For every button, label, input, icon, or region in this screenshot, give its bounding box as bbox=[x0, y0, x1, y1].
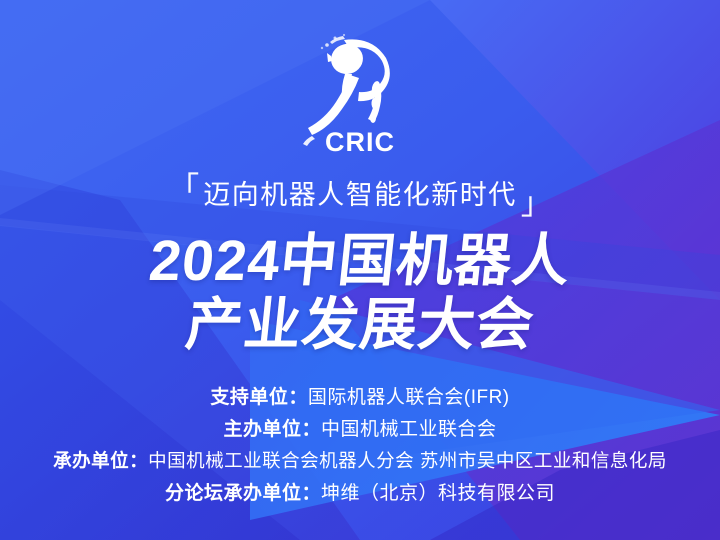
cric-wordmark: CRIC bbox=[325, 127, 395, 156]
poster-title: 2024中国机器人 产业发展大会 bbox=[0, 232, 720, 354]
credit-value: 中国机械工业联合会 bbox=[321, 419, 497, 440]
title-line-2: 产业发展大会 bbox=[0, 296, 720, 354]
conference-poster: CRIC 「 迈向机器人智能化新时代 」 2024中国机器人 产业发展大会 支持… bbox=[0, 0, 720, 540]
credit-label: 主办单位： bbox=[223, 419, 321, 440]
cric-logo: CRIC bbox=[0, 26, 720, 156]
close-bracket-icon: 」 bbox=[521, 188, 552, 219]
open-bracket-icon: 「 bbox=[168, 173, 199, 204]
credit-value: 坤维（北京）科技有限公司 bbox=[321, 483, 555, 504]
title-line-1: 2024中国机器人 bbox=[0, 232, 720, 290]
subtitle-text: 迈向机器人智能化新时代 bbox=[203, 182, 517, 209]
credit-value: 国际机器人联合会(IFR) bbox=[308, 387, 510, 408]
credit-row: 支持单位：国际机器人联合会(IFR) bbox=[0, 388, 720, 407]
credit-value: 中国机械工业联合会机器人分会 苏州市吴中区工业和信息化局 bbox=[148, 450, 667, 471]
credit-label: 分论坛承办单位： bbox=[165, 483, 321, 504]
credit-label: 支持单位： bbox=[210, 387, 308, 408]
credit-label: 承办单位： bbox=[53, 450, 148, 471]
poster-subtitle: 「 迈向机器人智能化新时代 」 bbox=[0, 180, 720, 211]
cric-logo-mark: CRIC bbox=[300, 26, 420, 156]
credit-row: 主办单位：中国机械工业联合会 bbox=[0, 420, 720, 439]
organizer-credits: 支持单位：国际机器人联合会(IFR) 主办单位：中国机械工业联合会 承办单位：中… bbox=[0, 388, 720, 503]
credit-row: 分论坛承办单位：坤维（北京）科技有限公司 bbox=[0, 484, 720, 503]
credit-row: 承办单位：中国机械工业联合会机器人分会 苏州市吴中区工业和信息化局 bbox=[0, 452, 720, 471]
